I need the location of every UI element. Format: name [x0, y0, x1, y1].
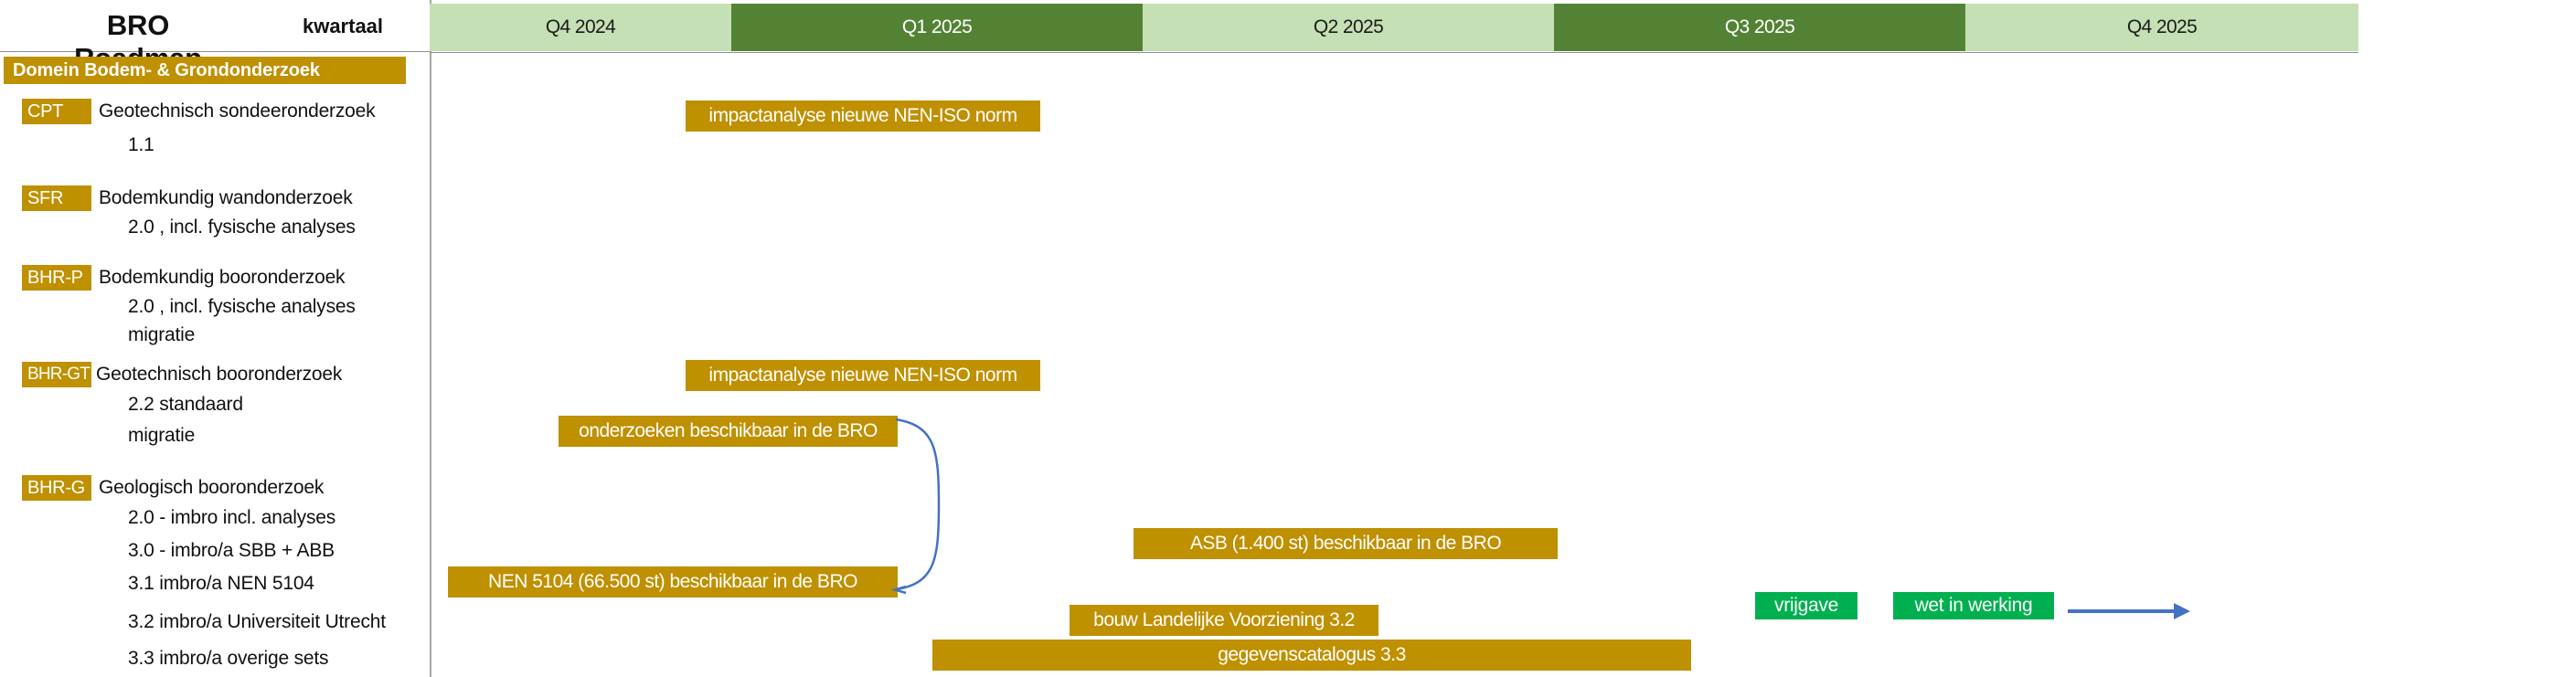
quarter-header-q3-2025[interactable]: Q3 2025 [1554, 4, 1965, 51]
row-label-cpt: Geotechnisch sondeeronderzoek [99, 99, 375, 124]
row-sublabel: 2.0 , incl. fysische analyses [128, 295, 356, 319]
row-sublabel: 1.1 [128, 133, 154, 157]
row-sublabel: 2.2 standaard [128, 393, 243, 417]
gantt-bar-bouw-landelijke-voorziening[interactable]: bouw Landelijke Voorziening 3.2 [1070, 605, 1378, 636]
quarter-header-q4-2025[interactable]: Q4 2025 [1965, 4, 2358, 51]
row-tag-bhr-g[interactable]: BHR-G [22, 475, 91, 501]
gantt-bar-asb-beschikbaar[interactable]: ASB (1.400 st) beschikbaar in de BRO [1134, 528, 1558, 559]
row-tag-label: BHR-P [27, 268, 83, 289]
gantt-bar-impactanalyse-cpt[interactable]: impactanalyse nieuwe NEN-ISO norm [686, 100, 1040, 132]
row-tag-label: BHR-G [27, 478, 85, 499]
gantt-bar-label: ASB (1.400 st) beschikbaar in de BRO [1190, 533, 1501, 555]
quarter-label: Q4 2024 [546, 16, 615, 38]
row-tag-cpt[interactable]: CPT [22, 99, 91, 124]
quarter-label: Q3 2025 [1725, 16, 1794, 38]
gantt-bar-label: NEN 5104 (66.500 st) beschikbaar in de B… [488, 571, 857, 593]
timeline-header-divider [430, 52, 2358, 53]
gantt-bar-label: bouw Landelijke Voorziening 3.2 [1093, 609, 1355, 631]
row-label-sfr: Bodemkundig wandonderzoek [99, 185, 353, 211]
quarter-header-q4-2024[interactable]: Q4 2024 [430, 4, 731, 51]
quarter-label: Q4 2025 [2127, 16, 2197, 38]
gantt-bar-nen-5104-beschikbaar[interactable]: NEN 5104 (66.500 st) beschikbaar in de B… [448, 566, 898, 598]
row-sublabel: migratie [128, 323, 195, 347]
gantt-bar-gegevenscatalogus[interactable]: gegevenscatalogus 3.3 [932, 640, 1691, 671]
row-tag-label: CPT [27, 101, 63, 122]
row-sublabel: 3.3 imbro/a overige sets [128, 647, 328, 671]
roadmap-canvas: BRO Roadmap kwartaal Domein Bodem- & Gro… [0, 0, 2576, 677]
label-column: BRO Roadmap kwartaal Domein Bodem- & Gro… [0, 0, 430, 677]
row-sublabel: migratie [128, 424, 195, 448]
row-sublabel: 2.0 , incl. fysische analyses [128, 216, 356, 239]
domain-band: Domein Bodem- & Grondonderzoek [4, 57, 406, 84]
kwartaal-header: kwartaal [274, 15, 411, 38]
row-label-bhr-p: Bodemkundig booronderzoek [99, 265, 345, 291]
gantt-bar-label: impactanalyse nieuwe NEN-ISO norm [708, 105, 1017, 127]
row-label-bhr-gt: Geotechnisch booronderzoek [96, 362, 342, 387]
row-tag-label: BHR-GT [27, 365, 90, 385]
row-sublabel: 3.0 - imbro/a SBB + ABB [128, 539, 335, 563]
gantt-bar-onderzoeken-beschikbaar[interactable]: onderzoeken beschikbaar in de BRO [559, 416, 898, 447]
quarter-header-q1-2025[interactable]: Q1 2025 [731, 4, 1143, 51]
quarter-label: Q1 2025 [902, 16, 972, 38]
gantt-bar-impactanalyse-bhr-gt[interactable]: impactanalyse nieuwe NEN-ISO norm [686, 360, 1040, 391]
row-tag-sfr[interactable]: SFR [22, 185, 91, 211]
row-tag-bhr-p[interactable]: BHR-P [22, 265, 91, 291]
row-tag-label: SFR [27, 188, 63, 209]
quarter-header-q2-2025[interactable]: Q2 2025 [1143, 4, 1554, 51]
timeline-area: Q4 2024 Q1 2025 Q2 2025 Q3 2025 Q4 2025 … [430, 0, 2576, 677]
right-arrow-icon [2066, 598, 2194, 624]
dependency-connector [891, 413, 955, 596]
quarter-label: Q2 2025 [1314, 16, 1383, 38]
row-label-bhr-g: Geologisch booronderzoek [99, 475, 324, 501]
row-sublabel: 2.0 - imbro incl. analyses [128, 506, 335, 530]
row-sublabel: 3.2 imbro/a Universiteit Utrecht [128, 610, 386, 634]
gantt-bar-label: onderzoeken beschikbaar in de BRO [579, 420, 878, 442]
gantt-bar-label: gegevenscatalogus 3.3 [1218, 644, 1406, 666]
legend-label: wet in werking [1915, 595, 2033, 617]
gantt-bar-label: impactanalyse nieuwe NEN-ISO norm [708, 365, 1017, 386]
legend-chip-wet-in-werking[interactable]: wet in werking [1893, 592, 2054, 619]
row-sublabel: 3.1 imbro/a NEN 5104 [128, 572, 314, 596]
legend-label: vrijgave [1774, 595, 1838, 617]
row-tag-bhr-gt[interactable]: BHR-GT [22, 362, 91, 387]
legend-chip-vrijgave[interactable]: vrijgave [1755, 592, 1857, 619]
